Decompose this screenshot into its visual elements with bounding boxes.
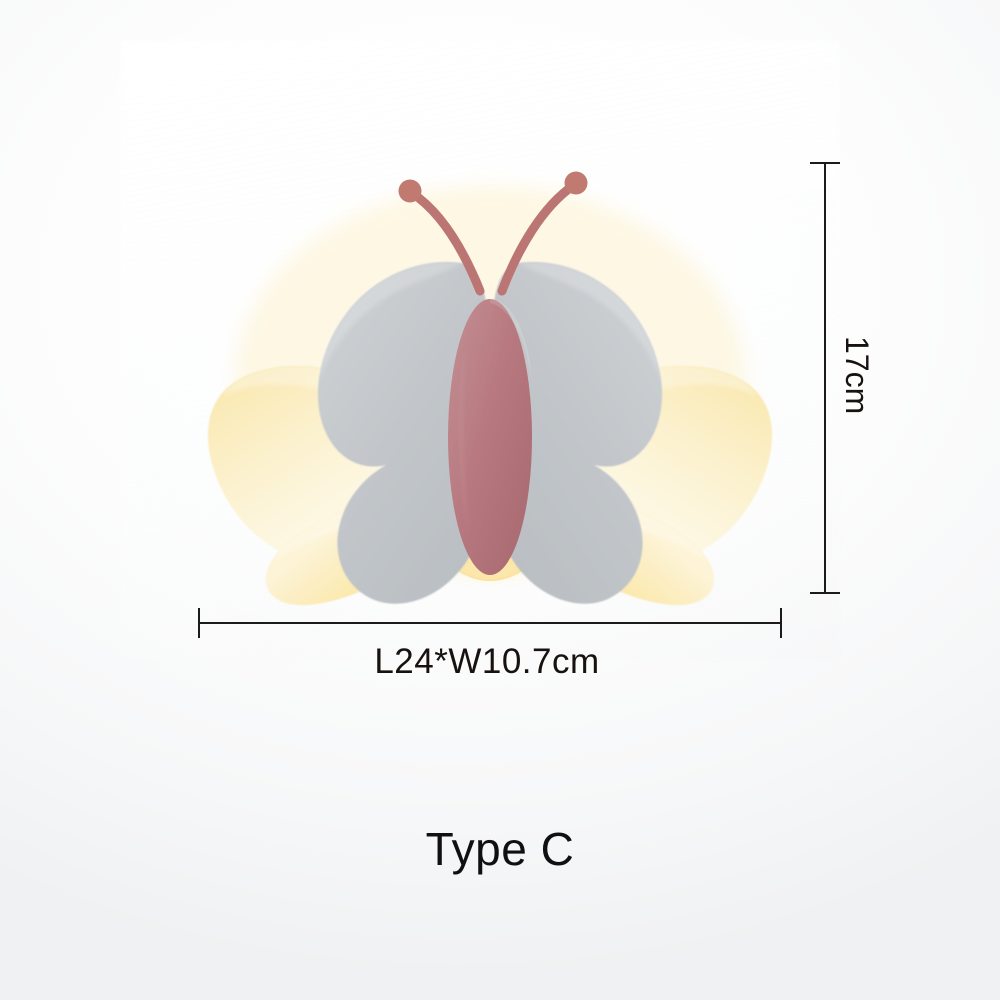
height-dimension-cap-top — [810, 162, 840, 164]
variant-caption: Type C — [0, 822, 1000, 876]
width-dimension-line — [198, 622, 782, 624]
width-dimension-label: L24*W10.7cm — [374, 642, 599, 682]
product-image-canvas: L24*W10.7cm 17cm Type C — [0, 0, 1000, 1000]
height-dimension-label: 17cm — [838, 336, 875, 414]
butterfly-lamp-illustration — [190, 145, 790, 610]
height-dimension-cap-bottom — [810, 592, 840, 594]
antenna-tip-right — [565, 172, 588, 195]
width-dimension-cap-right — [780, 608, 782, 638]
butterfly-wall-lamp — [190, 145, 790, 610]
width-dimension-cap-left — [198, 608, 200, 638]
width-dimension-label-wrapper: L24*W10.7cm — [0, 642, 1000, 682]
butterfly-body — [448, 299, 532, 575]
antenna-tip-left — [399, 180, 422, 203]
height-dimension-line — [824, 162, 826, 594]
